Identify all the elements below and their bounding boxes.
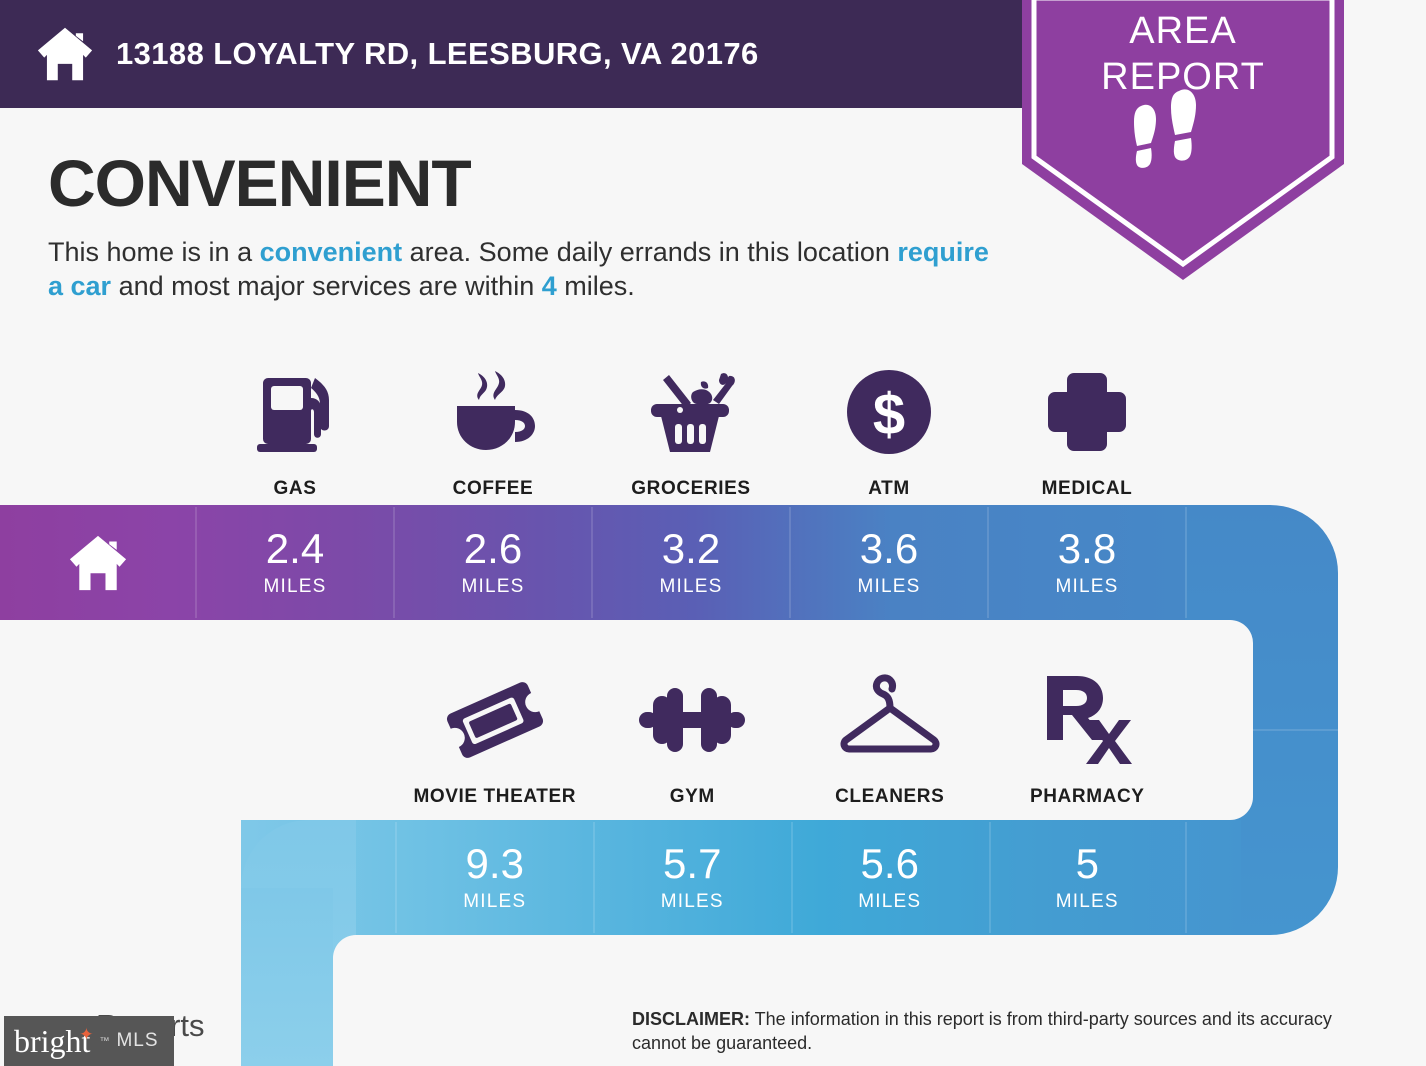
summary-highlight-1: convenient	[260, 237, 403, 267]
amenity-gym: GYM	[594, 668, 792, 808]
badge-line-1: AREA	[1022, 8, 1344, 54]
amenity-pharmacy: PHARMACY	[989, 668, 1187, 808]
amenity-atm: $ ATM	[790, 360, 988, 500]
hanger-icon	[834, 668, 946, 772]
amenity-label: GROCERIES	[631, 478, 750, 500]
amenity-label: CLEANERS	[835, 786, 944, 808]
distance-value: 9.3	[466, 843, 524, 885]
logo-trademark: ™	[99, 1036, 109, 1047]
distance-unit: MILES	[858, 891, 921, 913]
summary-part-2: area. Some daily errands in this locatio…	[402, 237, 897, 267]
amenity-groceries: GROCERIES	[592, 360, 790, 500]
distance-cell-cleaners: 5.6 MILES	[791, 820, 989, 935]
distance-value: 2.6	[464, 528, 522, 570]
amenity-coffee: COFFEE	[394, 360, 592, 500]
distance-unit: MILES	[463, 891, 526, 913]
disclaimer: DISCLAIMER: The information in this repo…	[632, 1008, 1380, 1056]
coffee-cup-icon	[443, 360, 543, 464]
header-bar: 13188 LOYALTY RD, LEESBURG, VA 20176	[0, 0, 1030, 108]
distance-unit: MILES	[857, 576, 920, 598]
logo-sub: MLS	[116, 1030, 158, 1052]
amenity-gas: GAS	[196, 360, 394, 500]
page-title: CONVENIENT	[48, 150, 1008, 216]
distance-row-1: 2.4 MILES 2.6 MILES 3.2 MILES 3.6 MILES …	[196, 505, 1186, 620]
distance-cell-gym: 5.7 MILES	[594, 820, 792, 935]
distance-row-2: 9.3 MILES 5.7 MILES 5.6 MILES 5 MILES	[396, 820, 1186, 935]
summary-highlight-3: 4	[542, 271, 557, 301]
gas-pump-icon	[247, 360, 343, 464]
distance-cell-pharmacy: 5 MILES	[989, 820, 1187, 935]
badge-label: AREA REPORT	[1022, 8, 1344, 101]
distance-cell-groceries: 3.2 MILES	[592, 505, 790, 620]
distance-value: 2.4	[266, 528, 324, 570]
amenity-label: ATM	[868, 478, 910, 500]
summary-text: This home is in a convenient area. Some …	[48, 236, 1008, 304]
distance-unit: MILES	[263, 576, 326, 598]
area-report-page: 13188 LOYALTY RD, LEESBURG, VA 20176 ARE…	[0, 0, 1426, 1066]
summary-part-3: and most major services are within	[111, 271, 542, 301]
distance-cell-coffee: 2.6 MILES	[394, 505, 592, 620]
distance-value: 3.8	[1058, 528, 1116, 570]
basket-icon	[639, 360, 743, 464]
logo-brand: bright✦	[14, 1025, 90, 1057]
amenity-label: PHARMACY	[1030, 786, 1145, 808]
distance-cell-medical: 3.8 MILES	[988, 505, 1186, 620]
house-icon	[36, 26, 94, 82]
distance-value: 5.6	[861, 843, 919, 885]
summary-part-4: miles.	[557, 271, 635, 301]
disclaimer-label: DISCLAIMER:	[632, 1009, 750, 1029]
distance-unit: MILES	[661, 891, 724, 913]
amenity-cleaners: CLEANERS	[791, 668, 989, 808]
amenity-label: COFFEE	[453, 478, 534, 500]
distance-value: 3.6	[860, 528, 918, 570]
distance-unit: MILES	[1056, 891, 1119, 913]
distance-cell-atm: 3.6 MILES	[790, 505, 988, 620]
amenity-label: MOVIE THEATER	[413, 786, 576, 808]
amenity-label: MEDICAL	[1042, 478, 1133, 500]
ticket-icon	[443, 668, 547, 772]
distance-unit: MILES	[461, 576, 524, 598]
bright-mls-logo: bright✦™MLS	[4, 1016, 174, 1066]
rx-icon	[1039, 668, 1135, 772]
amenity-label: GYM	[670, 786, 715, 808]
amenity-icon-row-1: GAS COFFEE	[196, 360, 1186, 500]
star-icon: ✦	[79, 1026, 93, 1043]
home-marker	[0, 505, 196, 620]
distance-value: 3.2	[662, 528, 720, 570]
house-icon	[66, 534, 130, 592]
distance-value: 5	[1076, 843, 1099, 885]
dollar-circle-icon: $	[841, 360, 937, 464]
dumbbell-icon	[637, 668, 747, 772]
headline-block: CONVENIENT This home is in a convenient …	[48, 150, 1008, 304]
amenity-label: GAS	[274, 478, 317, 500]
distance-cell-gas: 2.4 MILES	[196, 505, 394, 620]
distance-cell-movie-theater: 9.3 MILES	[396, 820, 594, 935]
distance-value: 5.7	[663, 843, 721, 885]
area-report-badge: AREA REPORT	[1022, 0, 1344, 280]
medical-cross-icon	[1040, 360, 1134, 464]
amenity-icon-row-2: MOVIE THEATER GYM	[396, 668, 1186, 808]
distance-unit: MILES	[659, 576, 722, 598]
svg-text:$: $	[873, 382, 905, 447]
amenity-movie-theater: MOVIE THEATER	[396, 668, 594, 808]
badge-line-2: REPORT	[1022, 54, 1344, 100]
property-address: 13188 LOYALTY RD, LEESBURG, VA 20176	[116, 36, 759, 72]
amenity-medical: MEDICAL	[988, 360, 1186, 500]
distance-unit: MILES	[1055, 576, 1118, 598]
summary-part-1: This home is in a	[48, 237, 260, 267]
